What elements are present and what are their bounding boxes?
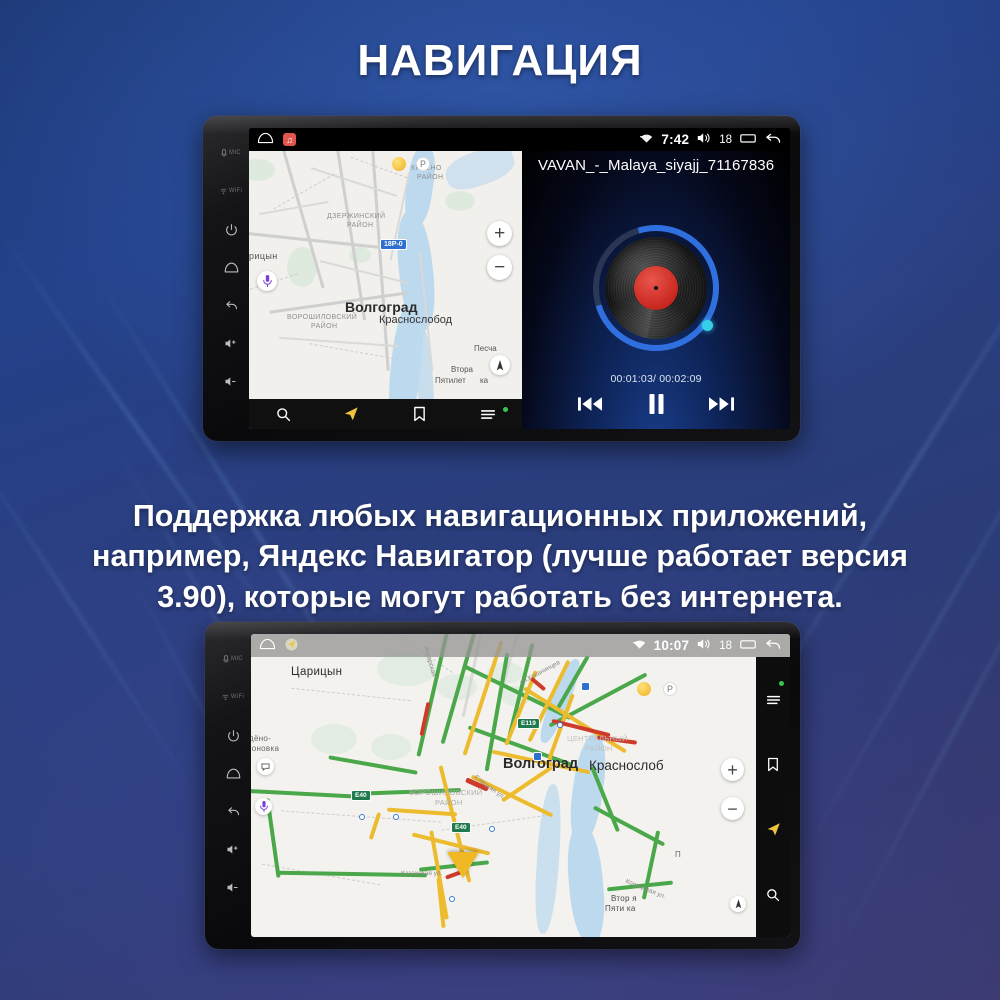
map-search-button[interactable] bbox=[249, 399, 317, 429]
map-compass-button[interactable] bbox=[730, 896, 746, 912]
status-time: 7:42 bbox=[661, 132, 689, 147]
map-poi-badge[interactable] bbox=[533, 752, 542, 761]
track-title: VAVAN_-_Malaya_siyajj_71167836 bbox=[522, 157, 790, 174]
map-waypoint-dot[interactable] bbox=[393, 814, 399, 820]
vinyl-center-hole bbox=[654, 286, 658, 290]
map-zoom-in-button[interactable]: + bbox=[721, 758, 744, 781]
yandex-traffic-map[interactable]: Царицын дёно- ноновка ВОРОШИЛОВСКИЙ РАЙО… bbox=[251, 634, 790, 937]
volume-up-icon[interactable] bbox=[213, 324, 249, 362]
playback-time: 00:01:03/ 00:02:09 bbox=[522, 373, 790, 385]
map-place-label: дёно- bbox=[251, 734, 271, 743]
music-player-panel[interactable]: VAVAN_-_Malaya_siyajj_71167836 00:01:03/… bbox=[522, 151, 790, 429]
next-track-icon[interactable] bbox=[709, 395, 734, 413]
map-place-label: Пяти ка bbox=[605, 904, 636, 913]
vinyl-record bbox=[605, 237, 707, 339]
map-waypoint-dot[interactable] bbox=[359, 814, 365, 820]
map-district-label: РАЙОН bbox=[435, 798, 463, 807]
map-place-label: Пятилет bbox=[435, 376, 466, 385]
map-menu-button[interactable] bbox=[756, 671, 790, 728]
map-city-label: Волгоград bbox=[345, 299, 417, 315]
volume-down-icon[interactable] bbox=[215, 868, 251, 906]
device-left-sidebar: MIC WiFi bbox=[215, 634, 251, 937]
map-place-label: Песча bbox=[474, 344, 497, 353]
map-bookmarks-button[interactable] bbox=[756, 736, 790, 793]
map-navigate-button[interactable] bbox=[756, 801, 790, 858]
status-time: 10:07 bbox=[654, 638, 690, 653]
map-place-label: Втора bbox=[451, 365, 473, 374]
map-canvas[interactable]: КРАСНО РАЙОН ДЗЕРЖИНСКИЙ РАЙОН рицын ВОР… bbox=[249, 151, 522, 429]
map-waypoint-dot[interactable] bbox=[489, 826, 495, 832]
previous-track-icon[interactable] bbox=[578, 395, 603, 413]
head-unit-device-top: MIC WiFi bbox=[203, 116, 800, 441]
map-district-label: РАЙОН bbox=[311, 323, 337, 330]
promo-page: НАВИГАЦИЯ MIC WiFi bbox=[0, 0, 1000, 1000]
playback-controls[interactable] bbox=[522, 394, 790, 414]
recents-icon[interactable] bbox=[740, 638, 756, 653]
map-compass-button[interactable] bbox=[490, 355, 510, 375]
map-waypoint-dot[interactable] bbox=[557, 722, 563, 728]
pause-icon[interactable] bbox=[648, 394, 665, 414]
map-search-button[interactable] bbox=[756, 866, 790, 923]
map-zoom-in-button[interactable]: + bbox=[487, 221, 512, 246]
device-left-sidebar: MIC WiFi bbox=[213, 128, 249, 429]
volume-up-icon[interactable] bbox=[215, 830, 251, 868]
volume-level: 18 bbox=[719, 134, 732, 146]
power-icon[interactable] bbox=[213, 210, 249, 248]
home-icon[interactable] bbox=[213, 248, 249, 286]
map-navigate-button[interactable] bbox=[317, 399, 385, 429]
yandex-map-panel[interactable]: КРАСНО РАЙОН ДЗЕРЖИНСКИЙ РАЙОН рицын ВОР… bbox=[249, 151, 522, 429]
map-district-label: ВОРОШИЛОВСКИЙ bbox=[287, 314, 357, 321]
home-icon[interactable] bbox=[259, 638, 276, 653]
map-district-label: рицын bbox=[249, 251, 278, 261]
map-district-label: РАЙОН bbox=[585, 744, 613, 753]
map-poi-marker[interactable] bbox=[637, 682, 651, 696]
mic-label-icon[interactable]: MIC bbox=[215, 640, 251, 678]
android-status-bar: 10:07 18 bbox=[251, 634, 790, 657]
back-icon[interactable] bbox=[764, 638, 782, 654]
map-district-label: ВОРОШИЛОВСКИЙ bbox=[409, 788, 483, 797]
map-poi-badge[interactable] bbox=[581, 682, 590, 691]
vinyl-progress-widget[interactable] bbox=[593, 225, 719, 351]
android-status-bar: ♫ 7:42 18 bbox=[249, 128, 790, 151]
device-screen-top[interactable]: ♫ 7:42 18 bbox=[249, 128, 790, 429]
map-road-badge: E40 bbox=[451, 822, 471, 833]
menu-badge-dot bbox=[503, 407, 508, 412]
map-voice-search-button[interactable] bbox=[255, 798, 272, 815]
map-bottom-navbar[interactable] bbox=[249, 399, 522, 429]
device-screen-bottom[interactable]: Царицын дёно- ноновка ВОРОШИЛОВСКИЙ РАЙО… bbox=[251, 634, 790, 937]
map-district-label: ЦЕНТРАЛЬНЫЙ bbox=[567, 734, 628, 743]
wifi-icon bbox=[640, 133, 653, 147]
map-place-label: Втор я bbox=[611, 894, 637, 903]
map-place-label-2: Краснослоб bbox=[589, 758, 664, 773]
wifi-icon bbox=[633, 639, 646, 653]
page-title: НАВИГАЦИЯ bbox=[0, 36, 1000, 86]
map-place-label: ноновка bbox=[251, 744, 279, 753]
home-icon[interactable] bbox=[257, 132, 274, 147]
wifi-label-icon[interactable]: WiFi bbox=[213, 172, 249, 210]
map-road-badge: 18Р-0 bbox=[380, 239, 407, 250]
music-app-icon[interactable]: ♫ bbox=[283, 133, 296, 146]
back-icon[interactable] bbox=[215, 792, 251, 830]
map-bookmarks-button[interactable] bbox=[386, 399, 454, 429]
mic-label-icon[interactable]: MIC bbox=[213, 134, 249, 172]
head-unit-device-bottom: MIC WiFi bbox=[205, 622, 800, 949]
volume-level: 18 bbox=[719, 640, 732, 652]
volume-icon bbox=[697, 132, 711, 147]
recents-icon[interactable] bbox=[740, 132, 756, 147]
map-zoom-out-button[interactable]: − bbox=[487, 255, 512, 280]
caption-line-2: например, Яндекс Навигатор (лучше работа… bbox=[50, 536, 950, 576]
promo-caption: Поддержка любых навигационных приложений… bbox=[50, 496, 950, 617]
map-poi-marker[interactable] bbox=[392, 157, 406, 171]
home-icon[interactable] bbox=[215, 754, 251, 792]
map-zoom-out-button[interactable]: − bbox=[721, 797, 744, 820]
back-icon[interactable] bbox=[213, 286, 249, 324]
map-voice-search-button[interactable] bbox=[257, 271, 277, 291]
map-place-label: ка bbox=[480, 376, 488, 385]
map-right-toolbar[interactable] bbox=[756, 657, 790, 937]
menu-badge-dot bbox=[779, 681, 784, 686]
map-street-label: Казахекая ул. bbox=[401, 870, 442, 877]
map-chat-button[interactable] bbox=[257, 758, 274, 775]
back-icon[interactable] bbox=[764, 132, 782, 148]
power-icon[interactable] bbox=[215, 716, 251, 754]
parking-icon[interactable]: P bbox=[663, 682, 677, 696]
navigator-app-icon[interactable] bbox=[285, 638, 298, 654]
parking-icon[interactable]: P bbox=[416, 157, 430, 171]
map-menu-button[interactable] bbox=[454, 399, 522, 429]
volume-down-icon[interactable] bbox=[213, 362, 249, 400]
map-waypoint-dot[interactable] bbox=[449, 896, 455, 902]
map-place-label: Краснослобод bbox=[379, 314, 452, 326]
progress-ring-knob[interactable] bbox=[702, 320, 713, 331]
caption-line-1: Поддержка любых навигационных приложений… bbox=[50, 496, 950, 536]
map-district-label: ДЗЕРЖИНСКИЙ bbox=[327, 213, 385, 220]
map-place-label: Царицын bbox=[291, 666, 342, 678]
caption-line-3: 3.90), которые могут работать без интерн… bbox=[50, 577, 950, 617]
current-position-arrow bbox=[447, 852, 479, 878]
map-road-badge: E40 bbox=[351, 790, 371, 801]
map-district-label: РАЙОН bbox=[417, 174, 443, 181]
volume-icon bbox=[697, 638, 711, 653]
map-district-label: РАЙОН bbox=[347, 222, 373, 229]
wifi-label-icon[interactable]: WiFi bbox=[215, 678, 251, 716]
map-road-badge: E119 bbox=[517, 718, 540, 729]
map-place-label: П bbox=[675, 850, 681, 859]
